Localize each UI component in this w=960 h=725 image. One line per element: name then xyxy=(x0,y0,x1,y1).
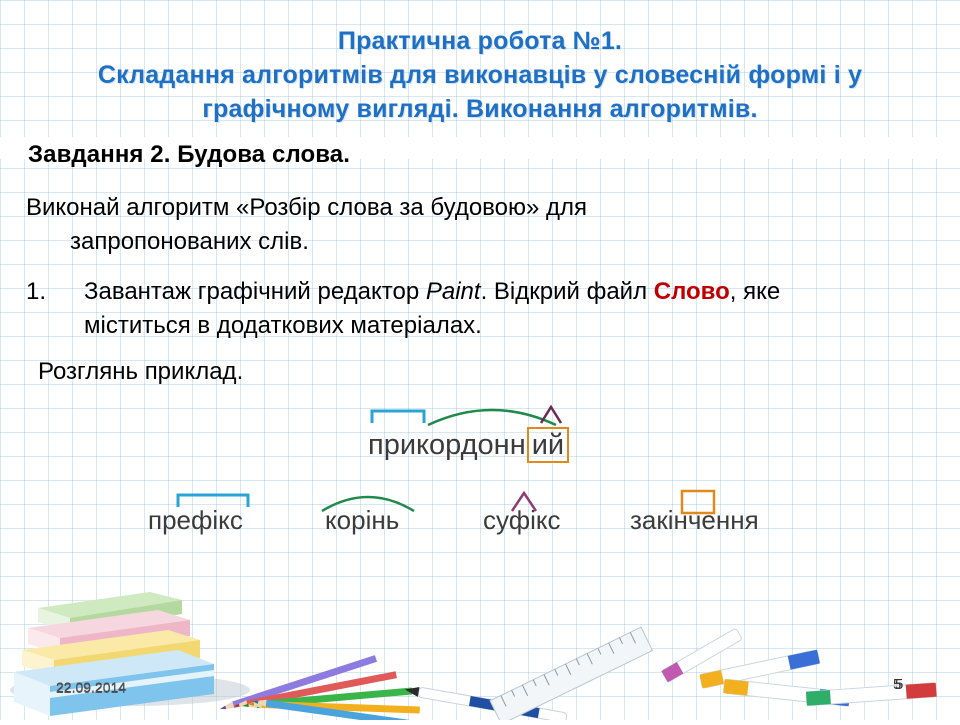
label-suffix: суфікс xyxy=(483,505,561,536)
page-number: 5 5 xyxy=(893,676,901,693)
item-line-2: міститься в додаткових матеріалах. xyxy=(84,309,906,343)
item-text-part-3: , яке xyxy=(730,278,780,305)
root-arc-icon xyxy=(428,410,556,425)
color-pencils-icon xyxy=(219,655,420,720)
label-ending: закінчення xyxy=(630,505,759,536)
task-heading: Завдання 2. Будова слова. xyxy=(28,141,350,169)
file-name-slovo: Слово xyxy=(654,278,730,305)
label-root: корінь xyxy=(325,505,399,536)
diagram-marks-legend xyxy=(0,489,960,529)
example-prompt: Розглянь приклад. xyxy=(38,358,243,386)
item-number: 1. xyxy=(26,275,46,309)
numbered-item-1: 1. Завантаж графічний редактор Paint. Ві… xyxy=(26,275,906,343)
instruction-line-1: Виконай алгоритм «Розбір слова за будово… xyxy=(26,194,587,221)
word-structure-diagram: прикордонний префікс корінь суфікс закін… xyxy=(0,405,960,555)
footer-date-overlay: 22.09.2014 xyxy=(56,680,126,696)
instruction-line-2: запропонованих слів. xyxy=(70,225,786,259)
prefix-bracket-icon xyxy=(372,411,424,423)
diagram-word: прикордонний xyxy=(368,429,569,462)
ruler-icon xyxy=(490,627,652,720)
instruction-paragraph: Виконай алгоритм «Розбір слова за будово… xyxy=(26,191,786,259)
label-prefix: префікс xyxy=(148,505,243,536)
book-stack-icon xyxy=(14,592,214,716)
footer-date: 22.09.2014 22.09.2014 xyxy=(56,679,126,695)
markers-icon xyxy=(661,628,936,706)
item-text-part-1: Завантаж графічний редактор xyxy=(84,278,426,305)
title-line-1: Практична робота №1. xyxy=(0,24,960,58)
page-number-overlay: 5 xyxy=(895,676,903,693)
item-line-1: Завантаж графічний редактор Paint. Відкр… xyxy=(84,275,906,309)
photo-illustration xyxy=(0,540,960,720)
title-line-2: Складання алгоритмів для виконавців у сл… xyxy=(0,58,960,92)
decorative-photo xyxy=(0,540,960,720)
item-text-part-2: . Відкрий файл xyxy=(481,278,654,305)
word-ending: ий xyxy=(527,427,569,463)
word-stem: прикордонн xyxy=(368,429,526,461)
page-title: Практична робота №1. Складання алгоритмі… xyxy=(0,24,960,126)
title-line-3: графічному вигляді. Виконання алгоритмів… xyxy=(0,92,960,126)
app-name-paint: Paint xyxy=(426,278,481,305)
slide-canvas: Практична робота №1. Складання алгоритмі… xyxy=(0,0,960,720)
